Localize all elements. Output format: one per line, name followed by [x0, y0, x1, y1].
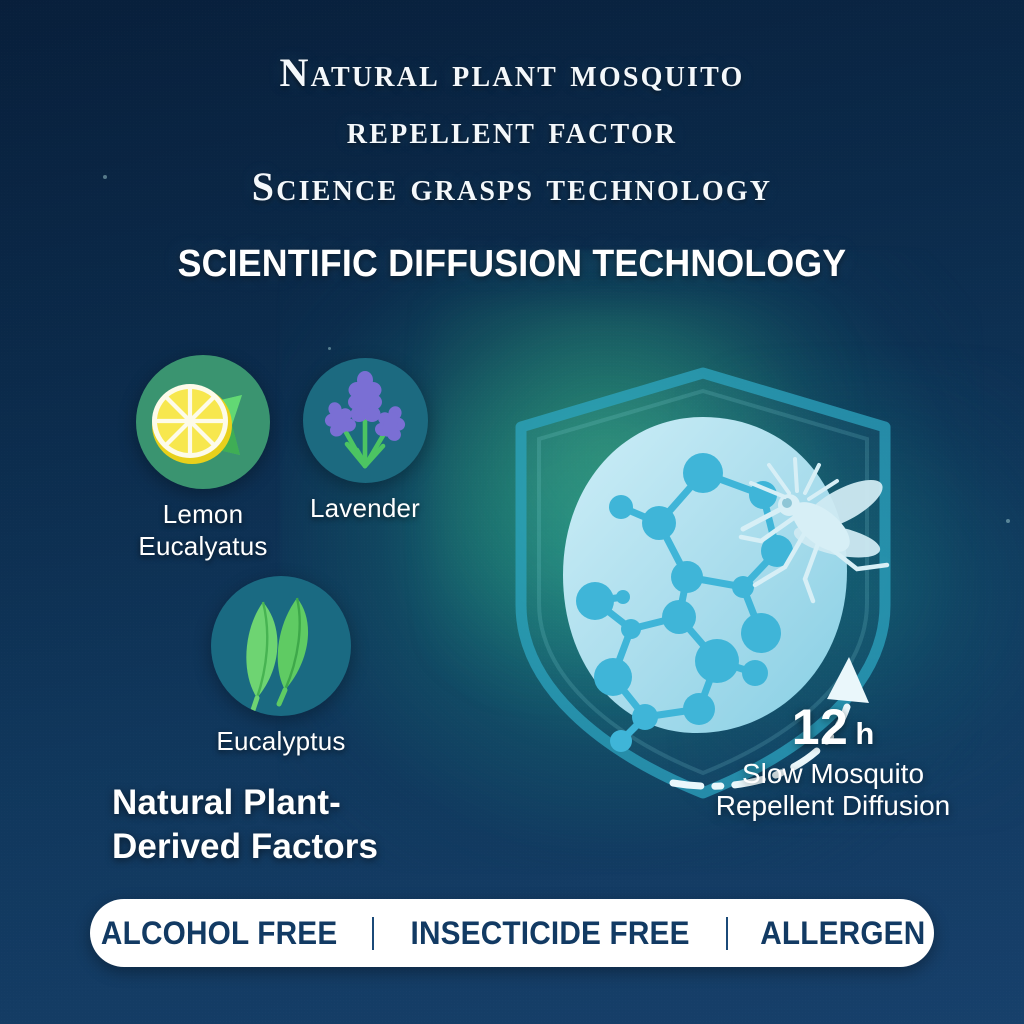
ingredient-circle: [136, 355, 270, 489]
lavender-sprig-icon: [303, 358, 428, 483]
duration-caption: Slow Mosquito Repellent Diffusion: [700, 758, 966, 822]
badge-alcohol-free: ALCOHOL FREE: [97, 915, 341, 952]
headline-line-3: Science grasps technology: [0, 158, 1024, 215]
product-infographic-poster: Natural plant mosquito repellent factor …: [0, 0, 1024, 1024]
badge-separator: [372, 917, 374, 950]
ingredient-label: Lemon Eucalyatus: [106, 498, 300, 562]
background-speck: [1006, 519, 1010, 523]
duration-value-row: 12h: [700, 700, 966, 754]
ingredient-label: Eucalyptus: [191, 725, 371, 757]
subtitle: SCIENTIFIC DIFFUSION TECHNOLOGY: [31, 243, 994, 286]
ingredient-label: Lavender: [285, 492, 445, 524]
duration-block: 12h Slow Mosquito Repellent Diffusion: [700, 700, 966, 822]
ingredient-eucalyptus[interactable]: Eucalyptus: [191, 576, 371, 757]
claims-badge-bar: ALCOHOL FREE INSECTICIDE FREE ALLERGEN: [90, 899, 934, 967]
background-speck: [328, 347, 331, 350]
ingredient-lemon-eucalyatus[interactable]: Lemon Eucalyatus: [106, 355, 300, 562]
badge-separator: [726, 917, 728, 950]
lemon-slice-icon: [136, 355, 270, 489]
badge-insecticide-free: INSECTICIDE FREE: [407, 915, 694, 952]
ingredient-lavender[interactable]: Lavender: [285, 358, 445, 524]
headline-line-1: Natural plant mosquito: [0, 44, 1024, 101]
badge-allergen: ALLERGEN: [757, 915, 930, 952]
ingredient-circle: [303, 358, 428, 483]
ingredient-circle: [211, 576, 351, 716]
headline-line-2: repellent factor: [0, 101, 1024, 158]
duration-value: 12: [792, 699, 849, 755]
natural-factors-label: Natural Plant- Derived Factors: [112, 781, 378, 869]
eucalyptus-leaves-icon: [211, 576, 351, 716]
headline: Natural plant mosquito repellent factor …: [0, 44, 1024, 215]
duration-unit: h: [855, 716, 874, 751]
